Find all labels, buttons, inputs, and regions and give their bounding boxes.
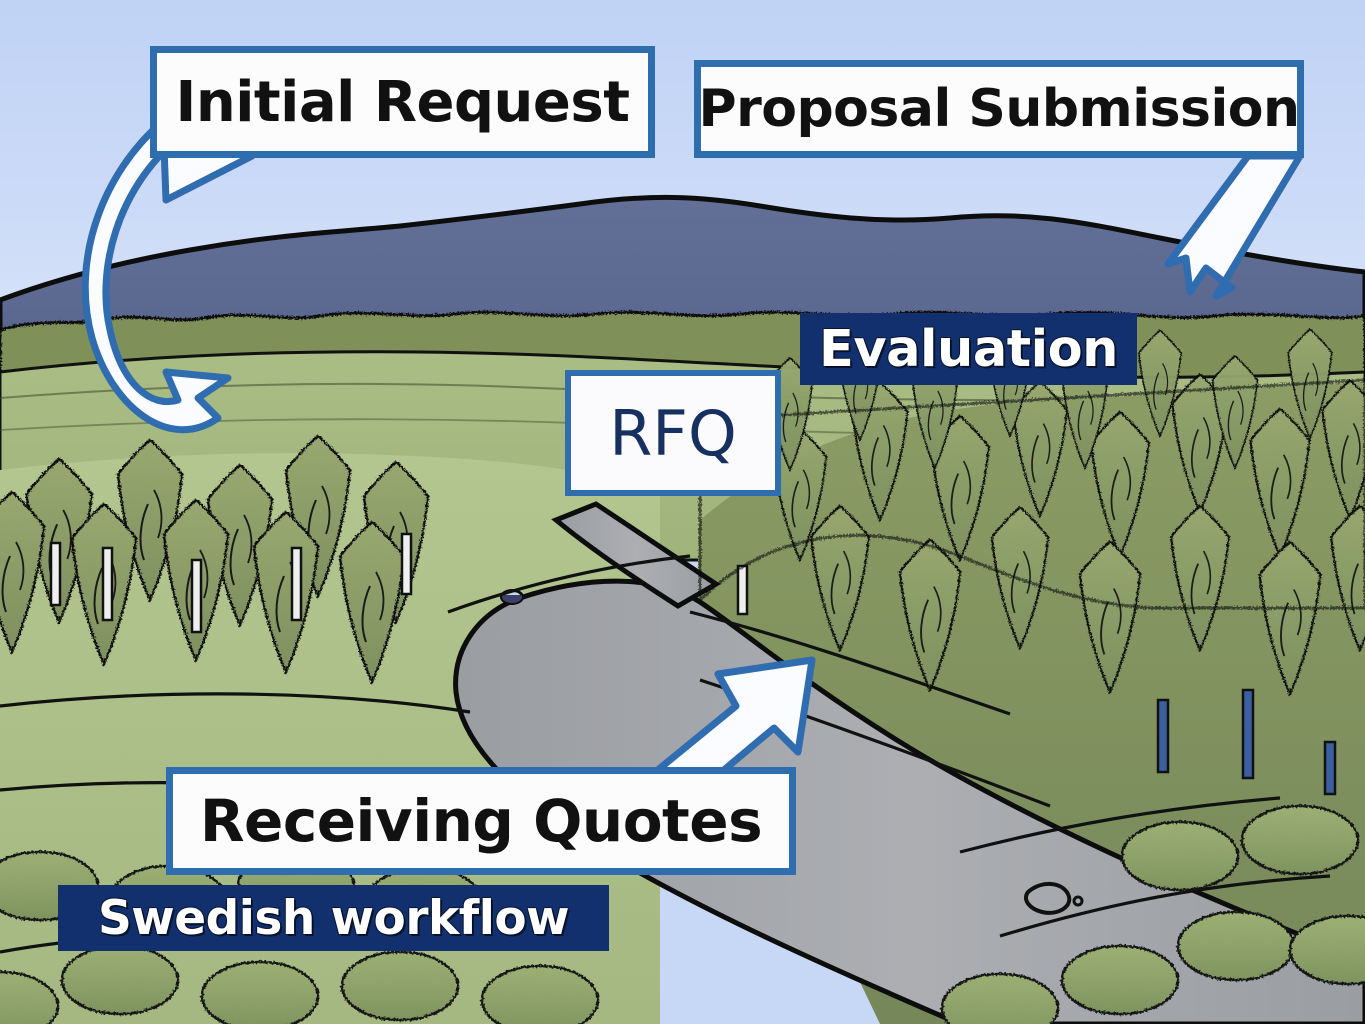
label-receiving-quotes-text: Receiving Quotes [200,787,762,855]
label-swedish-workflow: Swedish workflow [58,885,609,951]
label-initial-request-text: Initial Request [176,70,630,135]
illustration-canvas: Initial Request Proposal Submission Eval… [0,0,1365,1024]
label-swedish-workflow-text: Swedish workflow [98,891,569,946]
label-receiving-quotes: Receiving Quotes [166,767,796,875]
label-proposal-submission: Proposal Submission [694,60,1304,158]
label-evaluation: Evaluation [800,313,1137,385]
label-proposal-submission-text: Proposal Submission [698,79,1299,139]
label-rfq-text: RFQ [609,397,737,470]
label-evaluation-text: Evaluation [819,320,1118,379]
label-rfq: RFQ [565,370,781,496]
label-initial-request: Initial Request [150,46,655,158]
